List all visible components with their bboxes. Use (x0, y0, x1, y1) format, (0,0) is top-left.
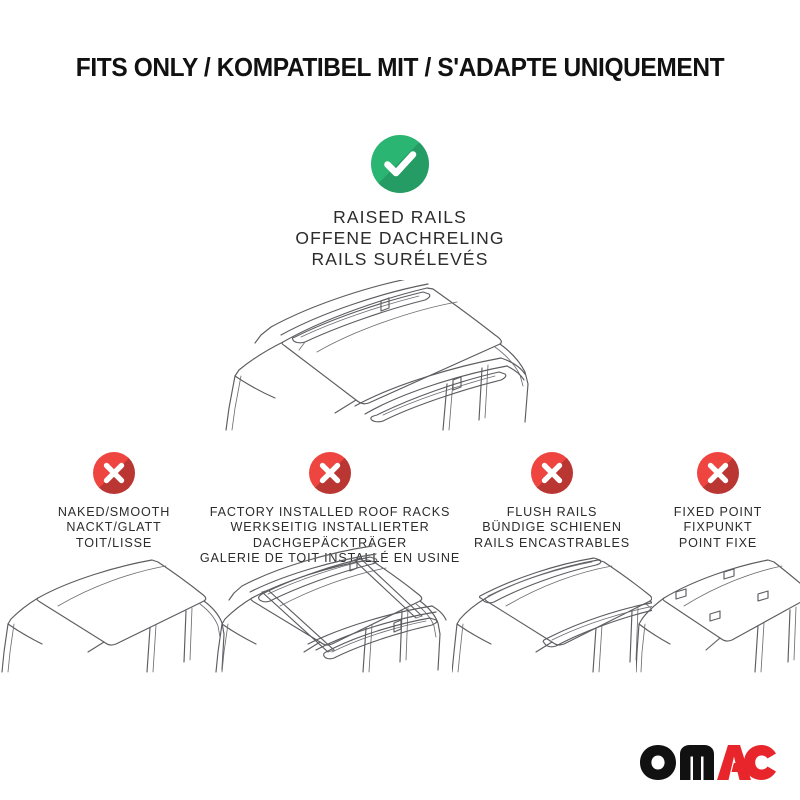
incompatible-label-de: FIXPUNKT (636, 520, 800, 535)
cross-circle-icon (93, 452, 135, 494)
product-compatibility-infographic: FITS ONLY / KOMPATIBEL MIT / S'ADAPTE UN… (0, 0, 800, 800)
incompatible-labels: NAKED/SMOOTH NACKT/GLATT TOIT/LISSE (0, 505, 228, 551)
incompatible-label-en: FACTORY INSTALLED ROOF RACKS (196, 505, 464, 520)
incompatible-item-fixed-point: FIXED POINT FIXPUNKT POINT FIXE (636, 452, 800, 551)
incompatible-labels: FIXED POINT FIXPUNKT POINT FIXE (636, 505, 800, 551)
incompatible-item-flush-rails: FLUSH RAILS BÜNDIGE SCHIENEN RAILS ENCAS… (452, 452, 652, 551)
page-title: FITS ONLY / KOMPATIBEL MIT / S'ADAPTE UN… (16, 54, 784, 83)
car-roof-factory-roof-rack-illustration (196, 540, 464, 682)
cross-circle-icon (309, 452, 351, 494)
incompatible-label-en: FLUSH RAILS (452, 505, 652, 520)
compatible-label-de: OFFENE DACHRELING (0, 228, 800, 249)
incompatible-label-fr: TOIT/LISSE (0, 536, 228, 551)
cross-circle-icon (531, 452, 573, 494)
car-roof-naked-smooth-illustration (0, 552, 228, 682)
incompatible-section: NAKED/SMOOTH NACKT/GLATT TOIT/LISSE (0, 452, 800, 712)
check-circle-icon (371, 135, 429, 193)
incompatible-item-factory-roof-rack: FACTORY INSTALLED ROOF RACKS WERKSEITIG … (196, 452, 464, 567)
incompatible-labels: FLUSH RAILS BÜNDIGE SCHIENEN RAILS ENCAS… (452, 505, 652, 551)
compatible-labels: RAISED RAILS OFFENE DACHRELING RAILS SUR… (0, 207, 800, 270)
compatible-label-fr: RAILS SURÉLEVÉS (0, 249, 800, 270)
incompatible-label-en: NAKED/SMOOTH (0, 505, 228, 520)
omac-logo (638, 742, 778, 782)
incompatible-item-naked-smooth: NAKED/SMOOTH NACKT/GLATT TOIT/LISSE (0, 452, 228, 551)
incompatible-label-en: FIXED POINT (636, 505, 800, 520)
car-roof-fixed-point-illustration (636, 552, 800, 682)
car-roof-raised-rails-illustration (195, 280, 615, 455)
incompatible-label-de: BÜNDIGE SCHIENEN (452, 520, 652, 535)
incompatible-label-fr: RAILS ENCASTRABLES (452, 536, 652, 551)
incompatible-label-de-1: WERKSEITIG INSTALLIERTER (196, 520, 464, 535)
car-roof-flush-rails-illustration (452, 552, 652, 682)
incompatible-label-fr: POINT FIXE (636, 536, 800, 551)
cross-circle-icon (697, 452, 739, 494)
incompatible-label-de: NACKT/GLATT (0, 520, 228, 535)
compatible-label-en: RAISED RAILS (0, 207, 800, 228)
compatible-section: RAISED RAILS OFFENE DACHRELING RAILS SUR… (0, 135, 800, 270)
